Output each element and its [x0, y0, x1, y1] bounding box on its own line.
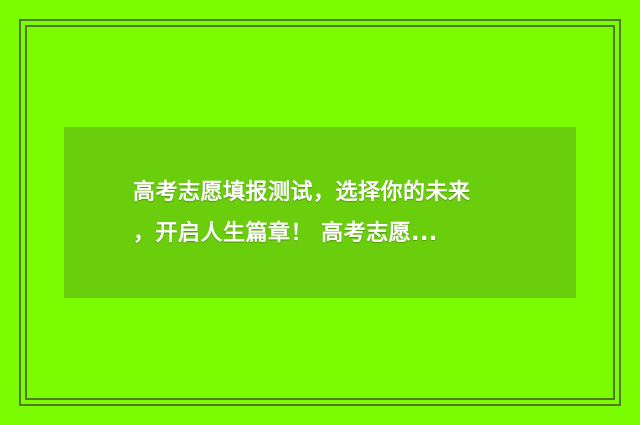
caption-panel: 高考志愿填报测试，选择你的未来 ，开启人生篇章！ 高考志愿...: [64, 127, 576, 298]
caption-line-2: ，开启人生篇章！ 高考志愿...: [133, 213, 438, 254]
page-canvas: 高考志愿填报测试，选择你的未来 ，开启人生篇章！ 高考志愿...: [0, 0, 640, 425]
caption-line-1: 高考志愿填报测试，选择你的未来: [133, 172, 471, 213]
